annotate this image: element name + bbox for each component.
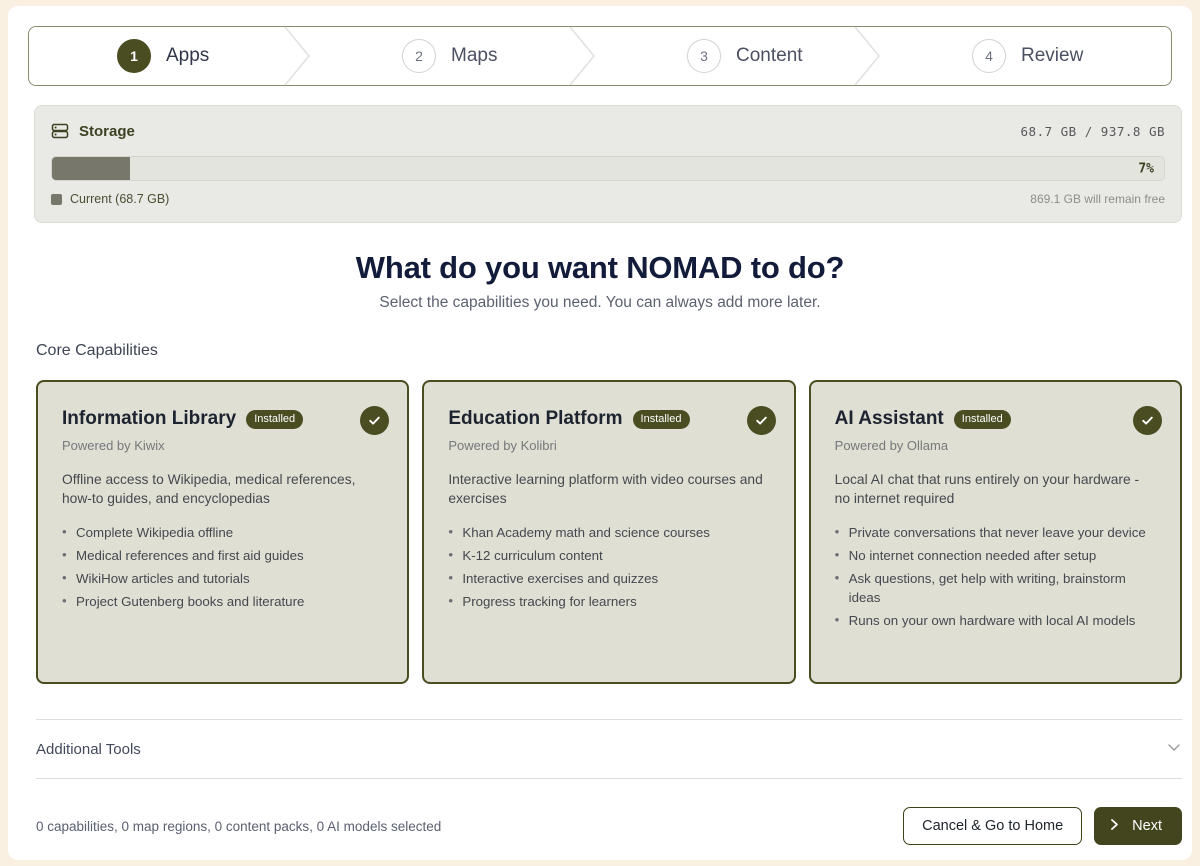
step-label-review: Review <box>1021 45 1083 67</box>
card-title: Education Platform <box>448 408 622 430</box>
card-title-row: Education Platform Installed <box>448 408 771 430</box>
check-circle-icon[interactable] <box>747 406 776 435</box>
chevron-down-icon[interactable] <box>1166 739 1182 760</box>
step-separator-icon <box>283 27 317 85</box>
card-title: Information Library <box>62 408 236 430</box>
check-circle-icon[interactable] <box>1133 406 1162 435</box>
cancel-button[interactable]: Cancel & Go to Home <box>903 807 1082 845</box>
list-item: Interactive exercises and quizzes <box>448 569 771 588</box>
list-item: No internet connection needed after setu… <box>835 546 1158 565</box>
status-badge: Installed <box>954 410 1011 429</box>
step-separator-icon <box>568 27 602 85</box>
legend-swatch-current <box>51 194 62 205</box>
list-item: Private conversations that never leave y… <box>835 523 1158 542</box>
wizard-stepper: 1 Apps 2 Maps 3 Content 4 Review <box>28 26 1172 86</box>
list-item: K-12 curriculum content <box>448 546 771 565</box>
list-item: Ask questions, get help with writing, br… <box>835 569 1158 607</box>
list-item: Complete Wikipedia offline <box>62 523 385 542</box>
card-powered-by: Powered by Ollama <box>835 438 1158 453</box>
footer-bar: 0 capabilities, 0 map regions, 0 content… <box>36 801 1182 851</box>
card-feature-list: Private conversations that never leave y… <box>835 523 1158 630</box>
additional-tools-label: Additional Tools <box>36 741 141 758</box>
capability-card-education-platform[interactable]: Education Platform Installed Powered by … <box>422 380 795 684</box>
card-powered-by: Powered by Kolibri <box>448 438 771 453</box>
card-description: Interactive learning platform with video… <box>448 470 771 508</box>
storage-panel: Storage 68.7 GB / 937.8 GB 7% Current (6… <box>34 105 1182 223</box>
status-badge: Installed <box>633 410 690 429</box>
status-badge: Installed <box>246 410 303 429</box>
capability-card-list: Information Library Installed Powered by… <box>36 380 1182 684</box>
step-label-apps: Apps <box>166 45 209 67</box>
card-title-row: AI Assistant Installed <box>835 408 1158 430</box>
storage-legend: Current (68.7 GB) 869.1 GB will remain f… <box>51 192 1165 206</box>
list-item: WikiHow articles and tutorials <box>62 569 385 588</box>
storage-header: Storage 68.7 GB / 937.8 GB <box>51 120 1165 142</box>
storage-progress-bar: 7% <box>51 156 1165 181</box>
step-separator-icon <box>853 27 887 85</box>
storage-usage-value: 68.7 GB / 937.8 GB <box>1021 124 1165 139</box>
card-description: Local AI chat that runs entirely on your… <box>835 470 1158 508</box>
server-icon <box>51 122 69 140</box>
step-number-1: 1 <box>117 39 151 73</box>
list-item: Runs on your own hardware with local AI … <box>835 611 1158 630</box>
additional-tools-section[interactable]: Additional Tools <box>36 719 1182 779</box>
step-label-content: Content <box>736 45 803 67</box>
storage-title: Storage <box>79 123 135 140</box>
card-feature-list: Complete Wikipedia offline Medical refer… <box>62 523 385 611</box>
step-content[interactable]: 3 Content <box>601 27 886 85</box>
step-number-3: 3 <box>687 39 721 73</box>
list-item: Project Gutenberg books and literature <box>62 592 385 611</box>
storage-free-note: 869.1 GB will remain free <box>1030 192 1165 206</box>
card-description: Offline access to Wikipedia, medical ref… <box>62 470 385 508</box>
chevron-right-icon <box>1108 818 1121 835</box>
capability-card-ai-assistant[interactable]: AI Assistant Installed Powered by Ollama… <box>809 380 1182 684</box>
app-window: 1 Apps 2 Maps 3 Content 4 Review <box>8 6 1192 860</box>
step-label-maps: Maps <box>451 45 497 67</box>
card-feature-list: Khan Academy math and science courses K-… <box>448 523 771 611</box>
legend-label-current: Current (68.7 GB) <box>70 192 169 206</box>
step-number-2: 2 <box>402 39 436 73</box>
capability-card-information-library[interactable]: Information Library Installed Powered by… <box>36 380 409 684</box>
section-heading-core-capabilities: Core Capabilities <box>36 342 158 360</box>
selection-summary: 0 capabilities, 0 map regions, 0 content… <box>36 819 441 834</box>
card-title-row: Information Library Installed <box>62 408 385 430</box>
step-apps[interactable]: 1 Apps <box>29 27 316 85</box>
next-button-label: Next <box>1132 818 1162 834</box>
step-maps[interactable]: 2 Maps <box>316 27 601 85</box>
list-item: Medical references and first aid guides <box>62 546 385 565</box>
footer-actions: Cancel & Go to Home Next <box>903 807 1182 845</box>
storage-progress-fill <box>52 157 130 180</box>
storage-percent-label: 7% <box>1138 161 1154 176</box>
page-title: What do you want NOMAD to do? <box>8 250 1192 286</box>
list-item: Progress tracking for learners <box>448 592 771 611</box>
next-button[interactable]: Next <box>1094 807 1182 845</box>
page-subtitle: Select the capabilities you need. You ca… <box>8 294 1192 312</box>
list-item: Khan Academy math and science courses <box>448 523 771 542</box>
card-title: AI Assistant <box>835 408 944 430</box>
card-powered-by: Powered by Kiwix <box>62 438 385 453</box>
step-review[interactable]: 4 Review <box>886 27 1171 85</box>
step-number-4: 4 <box>972 39 1006 73</box>
check-circle-icon[interactable] <box>360 406 389 435</box>
